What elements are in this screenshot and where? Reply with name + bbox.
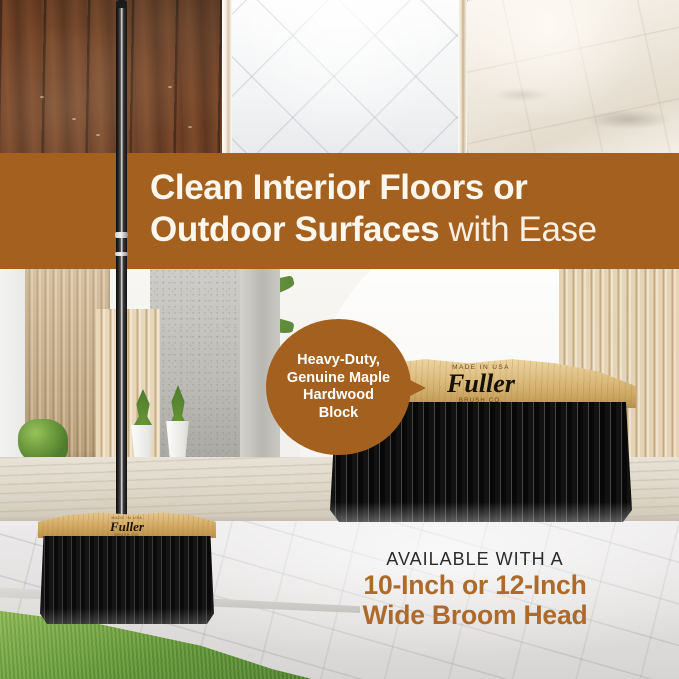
broom-head-full-view: MADE IN USA Fuller BRUSH CO. (38, 512, 216, 624)
flooring-sample-strip (0, 0, 679, 153)
headline-line-2-light: with Ease (449, 210, 597, 249)
callout-text-block: Heavy-Duty, Genuine Maple Hardwood Block (266, 319, 411, 455)
caption-line-2: Wide Broom Head (330, 600, 620, 630)
fuller-brand-logo: MADE IN USA Fuller BRUSH CO. (79, 516, 175, 537)
flooring-panel-dark-hardwood (0, 0, 222, 153)
headline-line-1: Clean Interior Floors or (150, 167, 671, 209)
caption-line-1: 10-Inch or 12-Inch (330, 570, 620, 600)
maple-hardwood-block: MADE IN USA Fuller BRUSH CO. (38, 512, 216, 538)
size-caption-block: AVAILABLE WITH A 10-Inch or 12-Inch Wide… (330, 548, 620, 630)
headline-line-2-bold: Outdoor Surfaces (150, 210, 439, 249)
callout-line-2: Genuine Maple (287, 370, 390, 388)
headline-banner: Clean Interior Floors or Outdoor Surface… (0, 153, 679, 269)
callout-line-4: Block (319, 405, 359, 423)
flooring-panel-marble (467, 0, 679, 153)
product-image: Clean Interior Floors or Outdoor Surface… (0, 0, 679, 679)
feature-callout-badge: Heavy-Duty, Genuine Maple Hardwood Block (266, 319, 411, 455)
brand-name-text: Fuller (79, 520, 175, 533)
caption-kicker: AVAILABLE WITH A (330, 548, 620, 570)
headline-line-2: Outdoor Surfaces with Ease (150, 209, 671, 251)
handle-cap (116, 0, 127, 8)
headline-text-block: Clean Interior Floors or Outdoor Surface… (150, 167, 671, 251)
broom-bristles (40, 536, 214, 624)
handle-band (115, 232, 128, 238)
callout-line-1: Heavy-Duty, (297, 352, 380, 370)
planter-with-plant (126, 389, 160, 461)
panel-divider (222, 0, 232, 153)
panel-divider (458, 0, 467, 153)
flooring-panel-white-tile (232, 0, 458, 153)
planter-with-plant (160, 385, 196, 461)
callout-line-3: Hardwood (303, 387, 374, 405)
handle-band (115, 252, 128, 256)
broom-handle (116, 0, 127, 523)
